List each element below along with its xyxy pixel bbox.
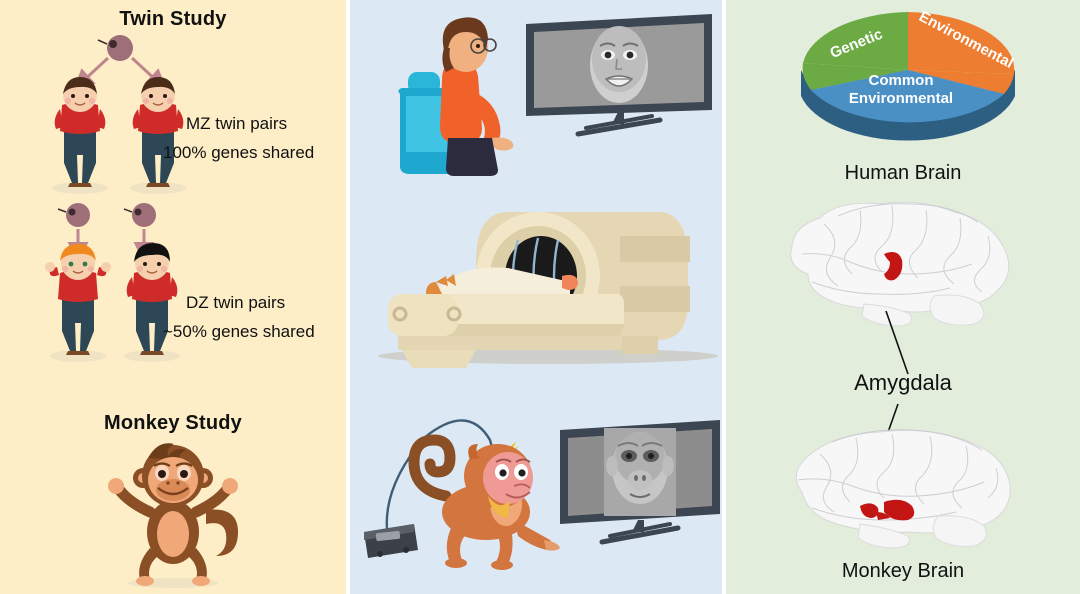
heritability-pie-chart: Genetic Environmental Common Environment…	[778, 4, 1038, 152]
zygote-icon	[98, 35, 133, 61]
twin-boy-mz-icon	[52, 77, 108, 194]
twin-study-title: Twin Study	[0, 8, 346, 31]
pie-label-common: Common	[869, 72, 934, 89]
recording-device-icon	[364, 524, 418, 558]
leader-line-icon	[726, 186, 1080, 446]
monkey-study-title: Monkey Study	[0, 412, 346, 435]
dz-twin-label-line1: DZ twin pairs	[186, 293, 285, 313]
panel-brain-heritability: Genetic Environmental Common Environment…	[726, 0, 1080, 594]
panel-experiment-paradigm	[350, 0, 722, 594]
seated-human-icon	[398, 17, 513, 176]
human-brain-label: Human Brain	[726, 162, 1080, 185]
arrow-icon	[82, 58, 158, 82]
twin-boy-dz-blackhair-icon	[124, 243, 180, 362]
figure-root: Twin Study	[0, 0, 1080, 594]
pie-label-environmental2: Environmental	[849, 90, 953, 107]
human-face-stimulus	[590, 26, 648, 103]
zygote-icon	[124, 203, 156, 227]
mri-scanner-icon	[358, 190, 722, 370]
zygote-icon	[58, 203, 90, 227]
monkey-face-stimulus	[604, 428, 676, 516]
monkey-brain-label: Monkey Brain	[726, 560, 1080, 583]
mz-twin-label-line2: 100% genes shared	[163, 143, 314, 163]
dz-twin-label-line2: ~50% genes shared	[163, 322, 315, 342]
monkey-experiment-scene	[358, 400, 722, 590]
monkey-electrode-icon	[414, 440, 560, 570]
panel-twin-monkey-study: Twin Study	[0, 0, 346, 594]
tv-human-face-icon	[526, 14, 712, 134]
monkey-cartoon-icon	[88, 440, 263, 590]
twin-boy-dz-redhair-icon	[45, 244, 111, 362]
human-experiment-scene	[370, 10, 722, 200]
amygdala-label: Amygdala	[726, 370, 1080, 396]
mz-twin-group	[20, 30, 220, 190]
mz-twin-label-line1: MZ twin pairs	[186, 114, 287, 134]
twin-boy-mz-icon	[130, 77, 186, 194]
monkey-brain-icon	[768, 420, 1038, 560]
tv-monkey-face-icon	[560, 420, 720, 542]
